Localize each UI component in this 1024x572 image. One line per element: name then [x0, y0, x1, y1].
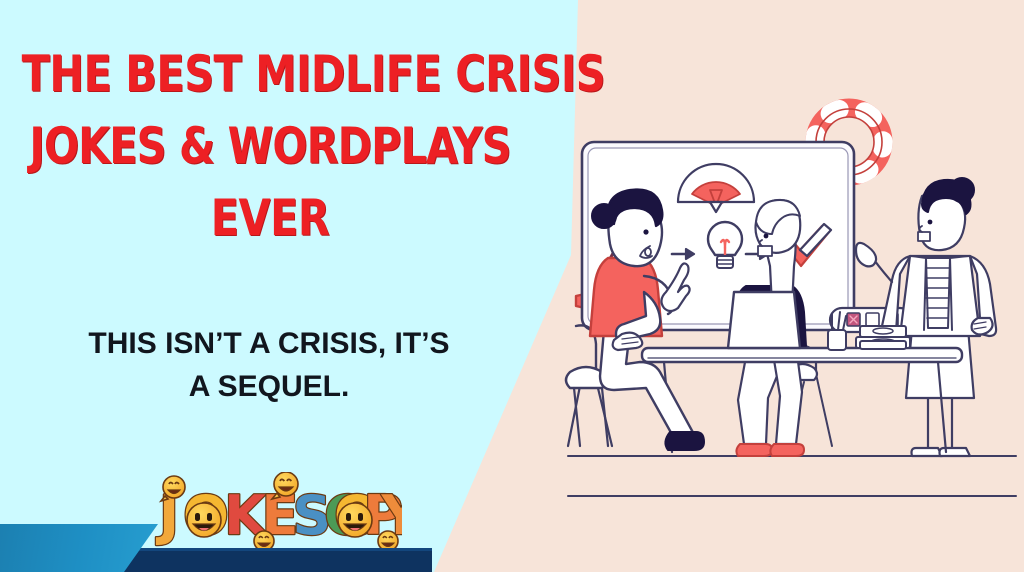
- laptop-icon: [728, 292, 800, 348]
- page-title: THE BEST MIDLIFE CRISIS JOKES & WORDPLAY…: [22, 38, 519, 254]
- headline-line-3: EVER: [22, 182, 519, 254]
- laughing-emoji-icon-1: [161, 476, 185, 501]
- headline-line-2: JOKES & WORDPLAYS: [22, 110, 519, 182]
- laughing-emoji-icon-4: [338, 503, 372, 537]
- office-meeting-illustration: [560, 96, 1024, 516]
- brand-logo[interactable]: J O K E S C O P Y: [152, 472, 402, 548]
- subtitle-line-1: THIS ISN’T A CRISIS, IT’S: [24, 322, 514, 365]
- laughing-emoji-icon-6: [378, 531, 398, 548]
- navy-footer-bar: [120, 548, 432, 572]
- laughing-emoji-icon-3: [187, 503, 221, 537]
- subtitle-line-2: A SEQUEL.: [24, 365, 514, 408]
- poster-canvas: THE BEST MIDLIFE CRISIS JOKES & WORDPLAY…: [0, 0, 1024, 572]
- book-stack: [856, 326, 910, 349]
- subtitle-text: THIS ISN’T A CRISIS, IT’S A SEQUEL.: [24, 322, 514, 408]
- laughing-emoji-icon-5: [254, 531, 274, 548]
- headline-line-1: THE BEST MIDLIFE CRISIS: [22, 38, 519, 110]
